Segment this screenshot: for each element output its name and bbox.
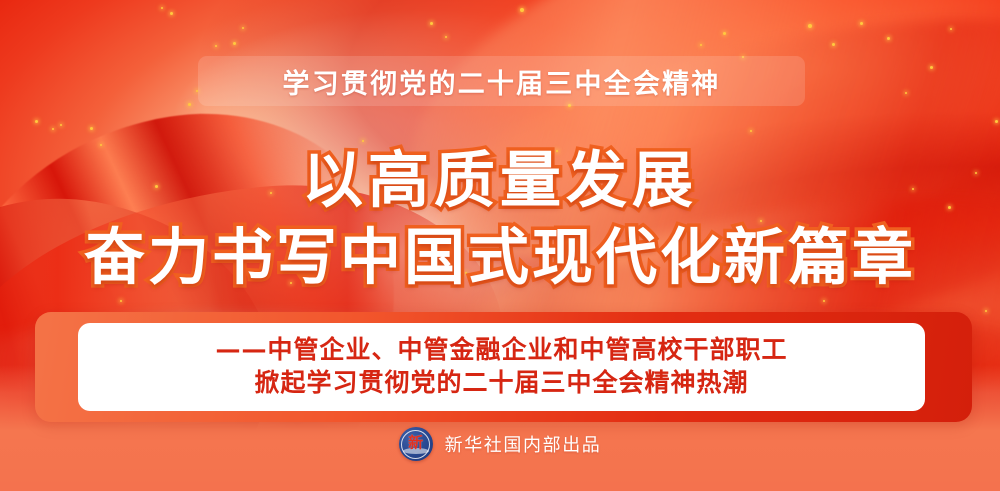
main-title-line-1: 以高质量发展 bbox=[0, 150, 1000, 211]
footer-text: 新华社国内部出品 bbox=[445, 431, 602, 457]
xinhua-news-agency-logo-icon: 新 bbox=[399, 427, 433, 461]
poster-root: 学习贯彻党的二十届三中全会精神 以高质量发展 奋力书写中国式现代化新篇章 ——中… bbox=[0, 0, 1000, 491]
main-title: 以高质量发展 奋力书写中国式现代化新篇章 bbox=[0, 150, 1000, 288]
top-banner-text: 学习贯彻党的二十届三中全会精神 bbox=[283, 62, 721, 101]
main-title-line-2: 奋力书写中国式现代化新篇章 bbox=[0, 227, 1000, 288]
footer: 新 新华社国内部出品 bbox=[0, 427, 1000, 461]
top-banner: 学习贯彻党的二十届三中全会精神 bbox=[198, 56, 805, 106]
subtitle-line-2: 掀起学习贯彻党的二十届三中全会精神热潮 bbox=[254, 369, 748, 398]
subtitle-line-1: ——中管企业、中管金融企业和中管高校干部职工 bbox=[215, 336, 787, 365]
subtitle-box: ——中管企业、中管金融企业和中管高校干部职工 掀起学习贯彻党的二十届三中全会精神… bbox=[78, 323, 925, 411]
logo-mark-character: 新 bbox=[408, 435, 423, 450]
